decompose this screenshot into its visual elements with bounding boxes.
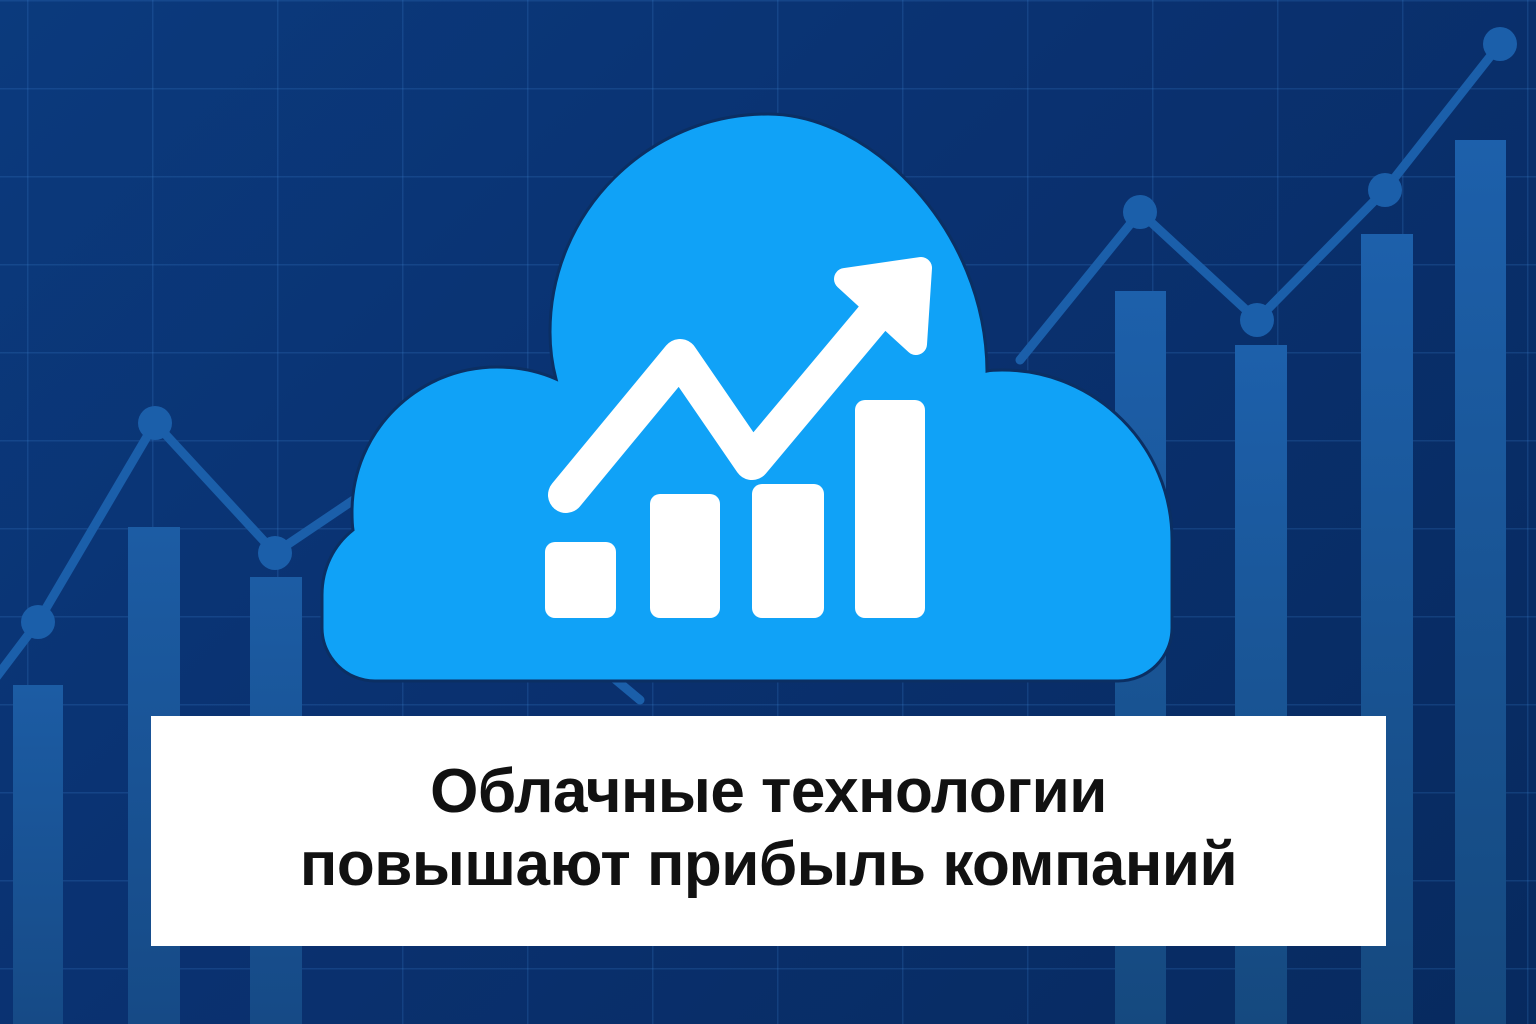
caption-line-2: повышают прибыль компаний xyxy=(300,833,1237,896)
cloud-bar-1 xyxy=(545,542,616,618)
cloud-bar-3 xyxy=(752,484,824,618)
cloud-bar-2 xyxy=(650,494,720,618)
caption-line-1: Облачные технологии xyxy=(430,760,1107,823)
cloud-shape xyxy=(322,114,1172,681)
cloud-bar-4 xyxy=(855,400,925,618)
caption-box: Облачные технологии повышают прибыль ком… xyxy=(151,716,1386,946)
poster-canvas: Облачные технологии повышают прибыль ком… xyxy=(0,0,1536,1024)
